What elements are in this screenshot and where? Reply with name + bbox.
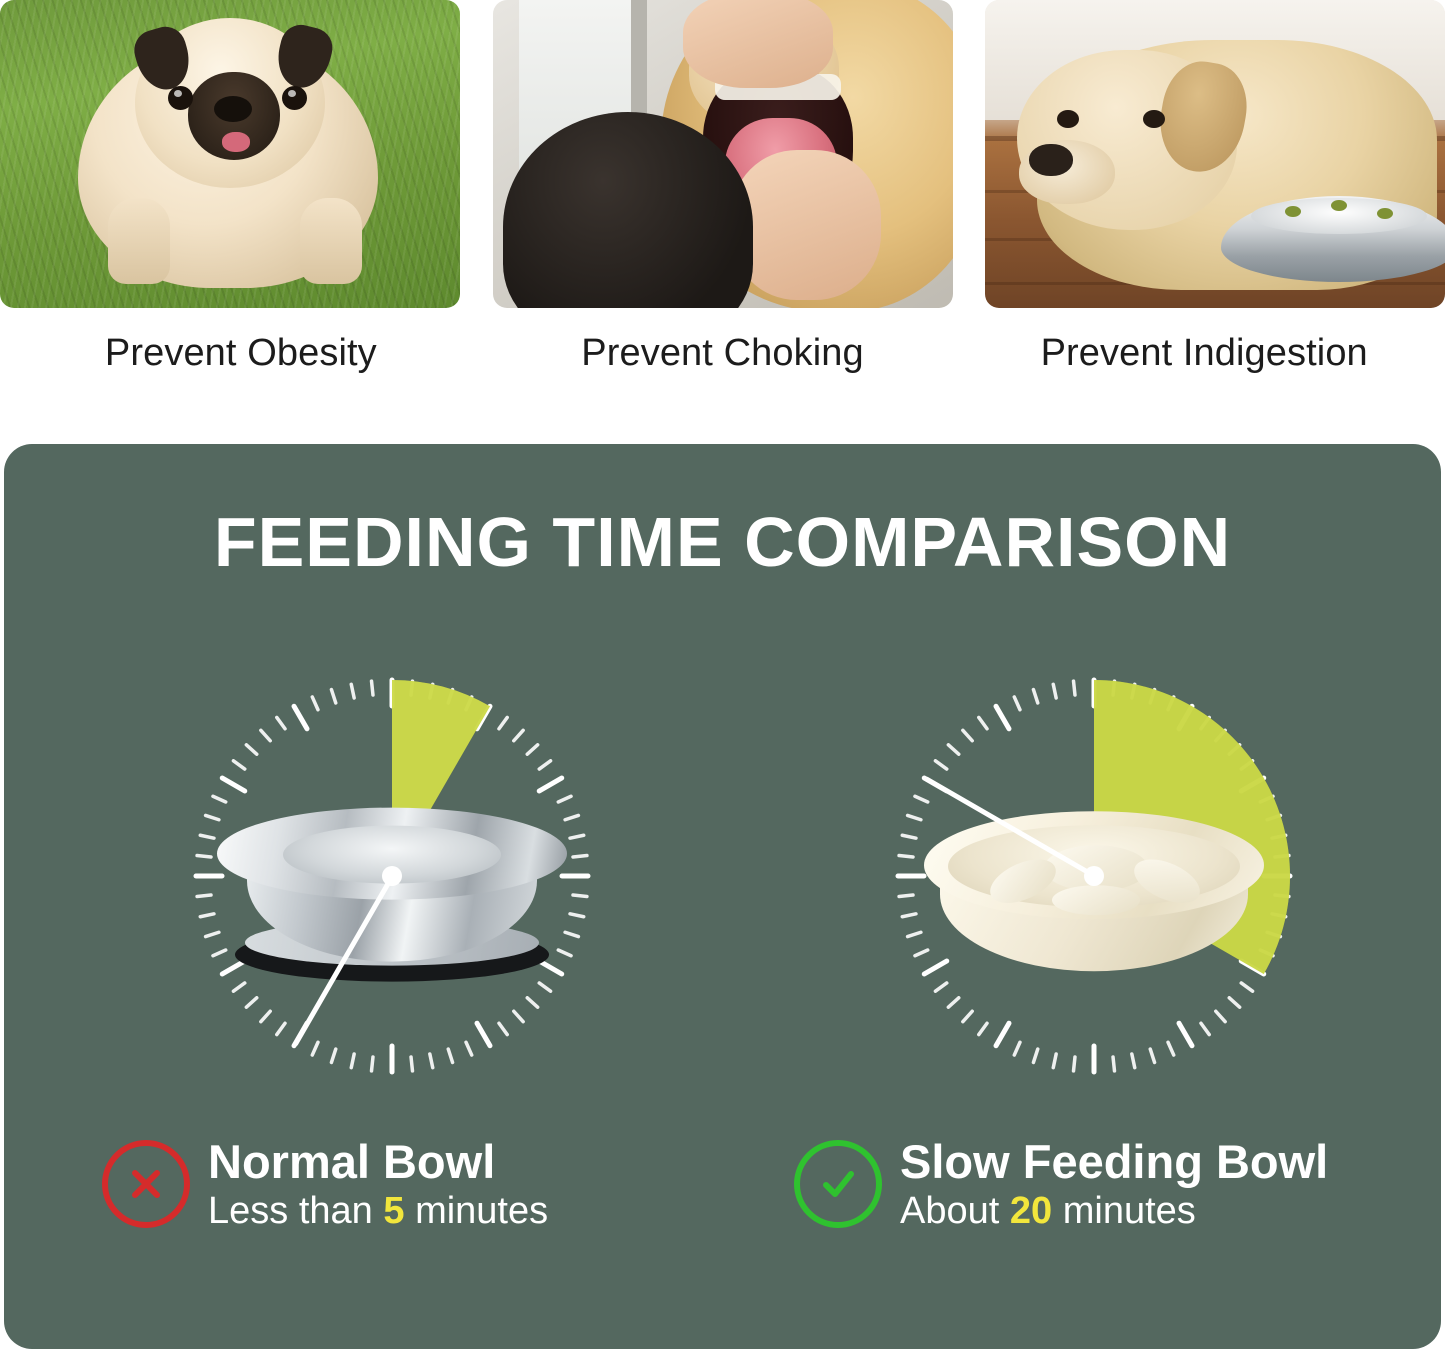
slow-bowl-subtitle: About 20 minutes	[900, 1190, 1196, 1233]
clock-hub-slow	[1084, 866, 1104, 886]
maze-ridge	[1052, 885, 1140, 915]
slow-prefix: About	[900, 1190, 999, 1232]
caption-prevent-indigestion: Prevent Indigestion	[963, 332, 1445, 394]
normal-suffix: minutes	[415, 1190, 548, 1232]
pug-eye-right	[282, 86, 307, 110]
normal-minutes-value: 5	[383, 1190, 404, 1232]
human-hand-lower	[731, 150, 881, 300]
clock-slow-feeding-bowl	[884, 666, 1304, 1086]
comparison-labels: Normal Bowl Less than 5 minutes Slow Fee…	[4, 1134, 1441, 1314]
normal-prefix: Less than	[208, 1190, 373, 1232]
slow-feeder-bowl-image	[924, 811, 1264, 991]
photo-prevent-indigestion	[985, 0, 1445, 308]
benefit-photo-row	[0, 0, 1445, 310]
check-mark-icon	[794, 1140, 882, 1228]
photo-prevent-obesity	[0, 0, 460, 308]
human-hand-upper	[683, 0, 833, 88]
photo-prevent-choking	[493, 0, 953, 308]
pug-leg-right	[300, 198, 362, 284]
labrador-nose	[1029, 144, 1073, 176]
pug-eye-left	[168, 86, 193, 110]
slow-bowl-title: Slow Feeding Bowl	[900, 1134, 1328, 1189]
normal-bowl-image	[217, 808, 567, 988]
labrador-eye-left	[1057, 110, 1079, 128]
benefit-captions: Prevent Obesity Prevent Choking Prevent …	[0, 332, 1445, 394]
caption-prevent-choking: Prevent Choking	[482, 332, 964, 394]
slow-suffix: minutes	[1063, 1190, 1196, 1232]
panel-title: FEEDING TIME COMPARISON	[4, 502, 1441, 582]
clock-comparison-row	[4, 666, 1441, 1086]
pug-tongue	[222, 132, 250, 152]
feeding-time-comparison-panel: FEEDING TIME COMPARISON	[4, 444, 1441, 1349]
caption-prevent-obesity: Prevent Obesity	[0, 332, 482, 394]
kibble-piece	[1377, 208, 1393, 219]
kibble-piece	[1285, 206, 1301, 217]
labrador-eye-right	[1143, 110, 1165, 128]
clock-normal-bowl	[182, 666, 602, 1086]
pug-leg-left	[108, 198, 170, 284]
normal-bowl-subtitle: Less than 5 minutes	[208, 1190, 548, 1233]
cross-mark-icon	[102, 1140, 190, 1228]
slow-minutes-value: 20	[1010, 1190, 1052, 1232]
kibble-piece	[1331, 200, 1347, 211]
normal-bowl-title: Normal Bowl	[208, 1134, 495, 1189]
clock-hub-normal	[382, 866, 402, 886]
product-infographic: Prevent Obesity Prevent Choking Prevent …	[0, 0, 1445, 1353]
pug-nose	[214, 96, 252, 122]
